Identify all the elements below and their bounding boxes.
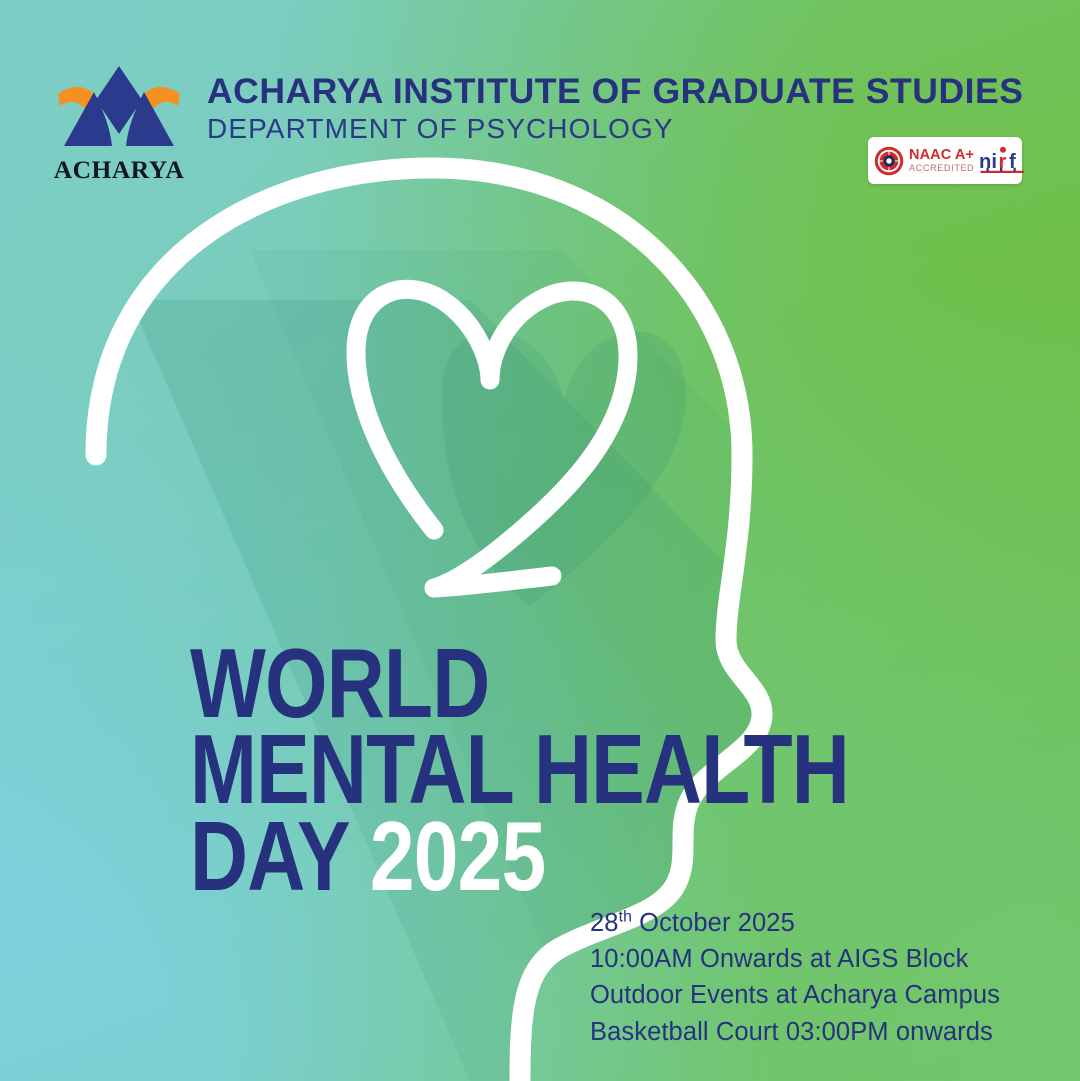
event-detail-outdoor: Outdoor Events at Acharya Campus bbox=[590, 977, 1000, 1013]
event-detail-date: 28th October 2025 bbox=[590, 905, 1000, 941]
headline-line-1: WORLD bbox=[190, 643, 715, 724]
event-detail-time-venue: 10:00AM Onwards at AIGS Block bbox=[590, 941, 1000, 977]
nirf-logo-icon: ni r f bbox=[979, 145, 1027, 177]
event-date-ordinal: th bbox=[619, 909, 632, 926]
naac-text-block: NAAC A+ ACCREDITED bbox=[909, 148, 974, 173]
event-detail-basketball: Basketball Court 03:00PM onwards bbox=[590, 1014, 1000, 1050]
headline-line-3: DAY 2025 bbox=[190, 816, 715, 897]
accreditation-badge: NAAC A+ ACCREDITED ni r f bbox=[868, 137, 1022, 184]
header-titles: ACHARYA INSTITUTE OF GRADUATE STUDIES DE… bbox=[207, 62, 1024, 144]
svg-text:r: r bbox=[999, 150, 1007, 172]
institute-name: ACHARYA INSTITUTE OF GRADUATE STUDIES bbox=[207, 73, 1024, 109]
event-date-rest: October 2025 bbox=[632, 909, 795, 937]
poster-headline: WORLD MENTAL HEALTH DAY 2025 bbox=[190, 643, 830, 897]
naac-subtitle: ACCREDITED bbox=[909, 164, 974, 173]
acharya-logo: ACHARYA bbox=[52, 64, 186, 183]
headline-day-word: DAY bbox=[190, 801, 348, 911]
event-date-day: 28 bbox=[590, 909, 619, 937]
headline-line-2: MENTAL HEALTH bbox=[190, 729, 715, 810]
headline-year: 2025 bbox=[370, 801, 545, 911]
naac-title: NAAC A+ bbox=[909, 148, 974, 163]
acharya-logo-icon bbox=[52, 64, 186, 156]
acharya-wordmark: ACHARYA bbox=[52, 157, 186, 183]
event-details: 28th October 2025 10:00AM Onwards at AIG… bbox=[590, 905, 1000, 1050]
naac-seal-icon bbox=[874, 146, 904, 176]
poster-canvas: ACHARYA ACHARYA INSTITUTE OF GRADUATE ST… bbox=[0, 0, 1080, 1081]
